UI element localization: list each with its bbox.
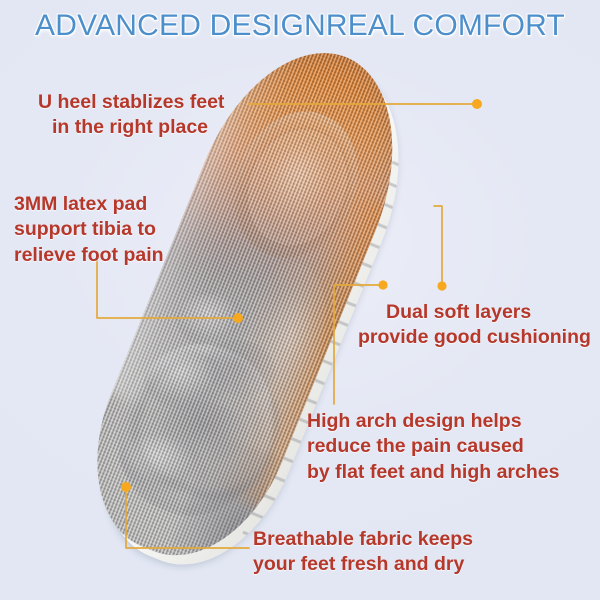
banner-title-bar: ADVANCED DESIGNREAL COMFORT xyxy=(0,0,600,52)
callout-high-arch-line2: reduce the pain caused xyxy=(307,434,559,459)
callout-u-heel-line2: in the right place xyxy=(38,115,224,140)
callout-breathable-line2: your feet fresh and dry xyxy=(253,552,473,577)
callout-breathable: Breathable fabric keeps your feet fresh … xyxy=(253,527,473,578)
callout-breathable-line1: Breathable fabric keeps xyxy=(253,527,473,552)
callout-dual-layers-line2: provide good cushioning xyxy=(358,325,591,350)
callout-high-arch-line1: High arch design helps xyxy=(307,409,559,434)
callout-high-arch-line3: by flat feet and high arches xyxy=(307,460,559,485)
page-title: ADVANCED DESIGNREAL COMFORT xyxy=(35,9,565,43)
callout-high-arch: High arch design helps reduce the pain c… xyxy=(307,409,559,485)
callout-dual-layers-line1: Dual soft layers xyxy=(386,300,591,325)
callout-latex-pad-line1: 3MM latex pad xyxy=(14,192,164,217)
callout-latex-pad-line2: support tibia to xyxy=(14,217,164,242)
callout-latex-pad-line3: relieve foot pain xyxy=(14,243,164,268)
infographic-canvas: ADVANCED DESIGNREAL COMFORT U heel stabl… xyxy=(0,0,600,600)
callout-latex-pad: 3MM latex pad support tibia to relieve f… xyxy=(14,192,164,268)
callout-dual-layers: Dual soft layers provide good cushioning xyxy=(386,300,591,351)
callout-u-heel-line1: U heel stablizes feet xyxy=(38,90,224,115)
callout-u-heel: U heel stablizes feet in the right place xyxy=(38,90,224,141)
